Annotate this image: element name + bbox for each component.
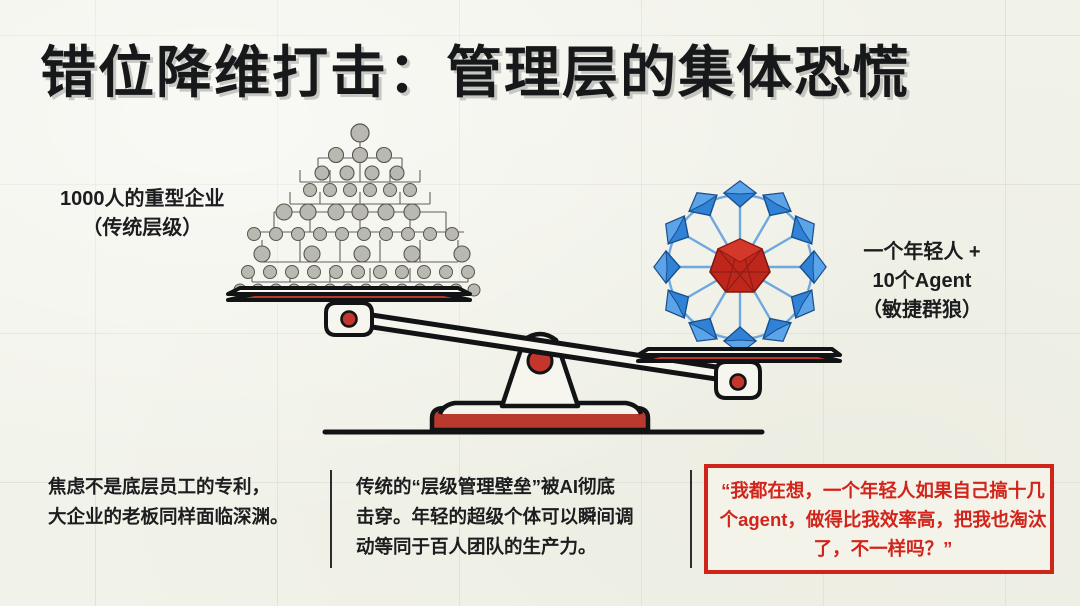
caption-1-line1: 焦虑不是底层员工的专利， — [48, 472, 318, 502]
caption-2-line2: 击穿。年轻的超级个体可以瞬间调 — [356, 502, 676, 532]
label-right-line3: （敏捷群狼） — [862, 296, 982, 325]
label-right-line1: 一个年轻人 + — [862, 238, 982, 267]
human-core-node — [710, 239, 770, 292]
label-right-line2: 10个Agent — [862, 267, 982, 296]
quote-text: “我都在想，一个年轻人如果自己搞十几个agent，做得比我效率高，把我也淘汰了，… — [718, 477, 1048, 564]
agent-swarm-icon — [654, 181, 826, 353]
caption-divider-1 — [330, 470, 332, 568]
label-left-line1: 1000人的重型企业 — [60, 185, 225, 214]
caption-divider-2 — [690, 470, 692, 568]
label-right-agents: 一个年轻人 + 10个Agent （敏捷群狼） — [862, 238, 982, 325]
slide-canvas: 错位降维打击：管理层的集体恐慌 — [0, 0, 1080, 606]
quote-callout-box: “我都在想，一个年轻人如果自己搞十几个agent，做得比我效率高，把我也淘汰了，… — [704, 464, 1054, 574]
org-pyramid-nodes — [234, 124, 480, 296]
label-left-line2: （传统层级） — [60, 214, 225, 243]
caption-2-line3: 动等同于百人团队的生产力。 — [356, 532, 676, 562]
caption-block-barrier: 传统的“层级管理壁垒”被AI彻底 击穿。年轻的超级个体可以瞬间调 动等同于百人团… — [356, 472, 676, 562]
caption-2-line1: 传统的“层级管理壁垒”被AI彻底 — [356, 472, 676, 502]
label-left-enterprise: 1000人的重型企业 （传统层级） — [60, 185, 225, 243]
caption-1-line2: 大企业的老板同样面临深渊。 — [48, 502, 318, 532]
caption-block-anxiety: 焦虑不是底层员工的专利， 大企业的老板同样面临深渊。 — [48, 472, 318, 532]
